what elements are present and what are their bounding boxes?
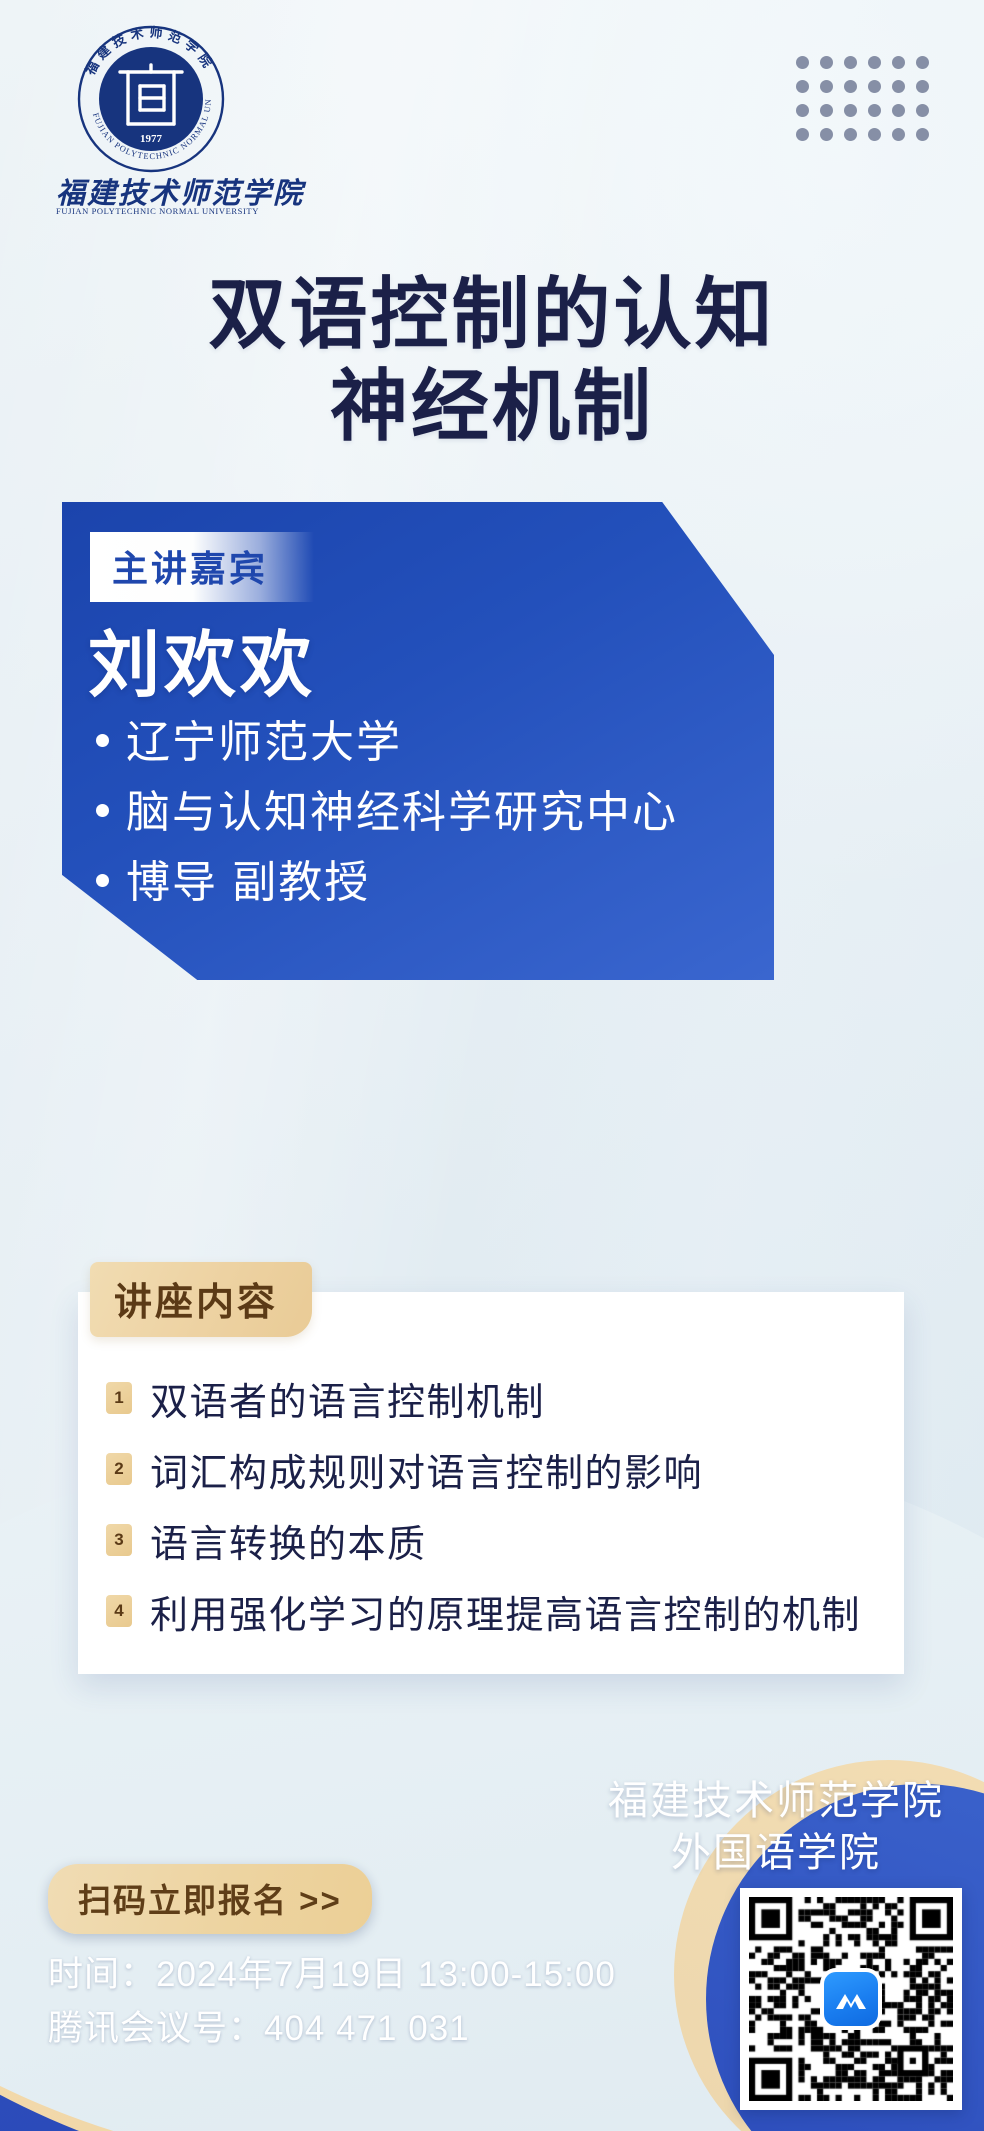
title-line-2: 神经机制 (0, 360, 984, 452)
speaker-name: 刘欢欢 (88, 606, 316, 711)
topic-text: 词汇构成规则对语言控制的影响 (150, 1442, 703, 1497)
organizer-line-2: 外国语学院 (608, 1827, 944, 1879)
poster-root: 1977 福建技术师范学院 FUJIAN POLYTECHNIC NORMAL … (0, 0, 984, 2131)
topic-number: 1 (106, 1382, 132, 1414)
svg-text:1977: 1977 (140, 133, 163, 145)
organizer: 福建技术师范学院 外国语学院 (608, 1775, 944, 1879)
event-meta: 时间：2024年7月19日 13:00-15:00 腾讯会议号：404 471 … (48, 1948, 616, 2057)
title-line-1: 双语控制的认知 (208, 270, 775, 358)
topic-number: 2 (106, 1453, 132, 1485)
list-item: 辽宁师范大学 (82, 714, 678, 772)
list-item: 3 语言转换的本质 (106, 1510, 861, 1570)
qr-code-icon[interactable] (740, 1888, 962, 2110)
speaker-panel: 主讲嘉宾 刘欢欢 辽宁师范大学 脑与认知神经科学研究中心 博导 副教授 (62, 502, 774, 980)
topic-number: 3 (106, 1524, 132, 1556)
organizer-line-1: 福建技术师范学院 (608, 1779, 944, 1823)
list-item: 2 词汇构成规则对语言控制的影响 (106, 1439, 861, 1499)
university-seal-icon: 1977 福建技术师范学院 FUJIAN POLYTECHNIC NORMAL … (76, 24, 226, 174)
topic-text: 利用强化学习的原理提高语言控制的机制 (150, 1584, 861, 1639)
list-item: 4 利用强化学习的原理提高语言控制的机制 (106, 1581, 861, 1641)
list-item: 1 双语者的语言控制机制 (106, 1368, 861, 1428)
speaker-badge-label: 主讲嘉宾 (112, 548, 268, 589)
list-item: 脑与认知神经科学研究中心 (82, 784, 678, 842)
lecture-content-badge-label: 讲座内容 (114, 1282, 278, 1324)
event-time: 时间：2024年7月19日 13:00-15:00 (48, 1948, 616, 2002)
topic-text: 双语者的语言控制机制 (150, 1371, 545, 1426)
speaker-affiliation-list: 辽宁师范大学 脑与认知神经科学研究中心 博导 副教授 (82, 714, 678, 924)
topic-number: 4 (106, 1595, 132, 1627)
list-item: 博导 副教授 (82, 854, 678, 912)
tencent-meeting-logo-icon (824, 1972, 878, 2026)
meeting-id: 腾讯会议号：404 471 031 (48, 2002, 616, 2056)
register-cta-label: 扫码立即报名 >> (78, 1882, 342, 1919)
dot-grid-icon (796, 56, 940, 152)
page-title: 双语控制的认知 神经机制 (0, 268, 984, 452)
speaker-badge: 主讲嘉宾 (90, 532, 314, 602)
topic-text: 语言转换的本质 (150, 1513, 427, 1568)
register-cta-button[interactable]: 扫码立即报名 >> (48, 1864, 372, 1934)
topic-list: 1 双语者的语言控制机制 2 词汇构成规则对语言控制的影响 3 语言转换的本质 … (106, 1368, 861, 1652)
logo-name-en: FUJIAN POLYTECHNIC NORMAL UNIVERSITY (56, 206, 256, 216)
university-logo: 1977 福建技术师范学院 FUJIAN POLYTECHNIC NORMAL … (56, 24, 256, 214)
lecture-content-badge: 讲座内容 (90, 1262, 312, 1337)
